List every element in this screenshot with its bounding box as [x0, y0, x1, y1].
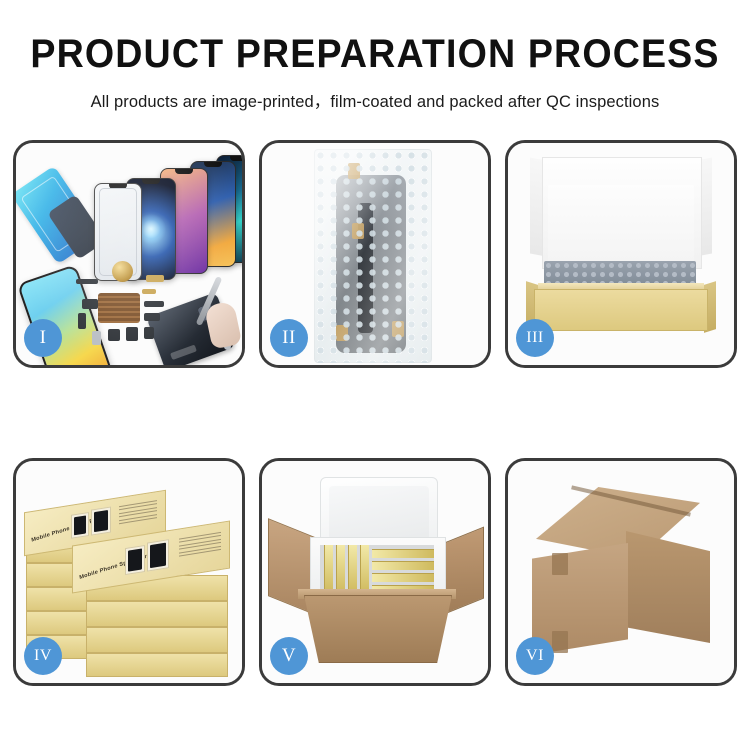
box-art-screen	[71, 512, 89, 539]
packed-box	[348, 545, 357, 593]
notch-icon	[142, 179, 160, 184]
carton-front-face	[532, 543, 628, 655]
step-card-1[interactable]: I	[13, 140, 245, 368]
kraft-box-front	[534, 289, 708, 331]
foam-sheet-icon	[548, 185, 694, 263]
step-badge-2: II	[270, 319, 308, 357]
step-card-3[interactable]: III	[505, 140, 737, 368]
bubble-wrap-bag-icon	[314, 149, 432, 363]
speaker-module-icon	[112, 261, 133, 282]
part-icon	[146, 275, 164, 282]
phone-screen-fan	[88, 153, 238, 278]
page-title: PRODUCT PREPARATION PROCESS	[23, 34, 728, 74]
box-art-screen	[147, 539, 169, 571]
step-card-2[interactable]: II	[259, 140, 491, 368]
notch-icon	[175, 169, 193, 174]
packed-box	[372, 549, 434, 558]
step-card-4[interactable]: Mobile Phone Spare Parts Mobile Phone Sp…	[13, 458, 245, 686]
page-subtitle: All products are image-printed，film-coat…	[0, 88, 750, 112]
packed-box	[360, 545, 369, 593]
plastic-sheen	[314, 149, 432, 363]
packed-box	[324, 545, 333, 593]
packed-box	[372, 561, 434, 570]
page-header: PRODUCT PREPARATION PROCESS All products…	[0, 0, 750, 112]
step-badge-3: III	[516, 319, 554, 357]
carton-tape-icon	[552, 553, 568, 575]
box-art-screen	[125, 545, 145, 575]
step-card-6[interactable]: VI	[505, 458, 737, 686]
box-spec-lines	[179, 532, 221, 559]
carton-side-face	[626, 531, 710, 643]
step-badge-4: IV	[24, 637, 62, 675]
notch-icon	[204, 162, 222, 167]
step-badge-1: I	[24, 319, 62, 357]
box-spec-lines	[119, 500, 157, 526]
step-badge-6: VI	[516, 637, 554, 675]
step-card-5[interactable]: V	[259, 458, 491, 686]
packed-box	[372, 573, 434, 582]
part-icon	[108, 329, 120, 341]
step-badge-5: V	[270, 637, 308, 675]
stacked-box	[86, 653, 228, 677]
packed-boxes	[320, 545, 434, 593]
logic-board-icon	[98, 293, 140, 323]
process-grid: I II	[13, 140, 737, 686]
part-icon	[76, 279, 98, 284]
part-icon	[144, 327, 154, 339]
stacked-box	[86, 601, 228, 627]
part-icon	[144, 301, 164, 307]
part-icon	[126, 327, 138, 341]
part-icon	[144, 313, 160, 321]
box-art-screen	[91, 506, 111, 535]
part-icon	[82, 299, 98, 309]
carton-tape-icon	[552, 631, 568, 653]
stacked-box	[86, 627, 228, 653]
notch-icon	[109, 184, 127, 189]
carton-body	[304, 595, 452, 663]
part-icon	[142, 289, 156, 294]
notch-icon	[230, 156, 245, 161]
foam-box-contents	[320, 545, 434, 593]
packed-box	[336, 545, 345, 593]
part-icon	[92, 331, 101, 345]
part-icon	[78, 313, 86, 329]
